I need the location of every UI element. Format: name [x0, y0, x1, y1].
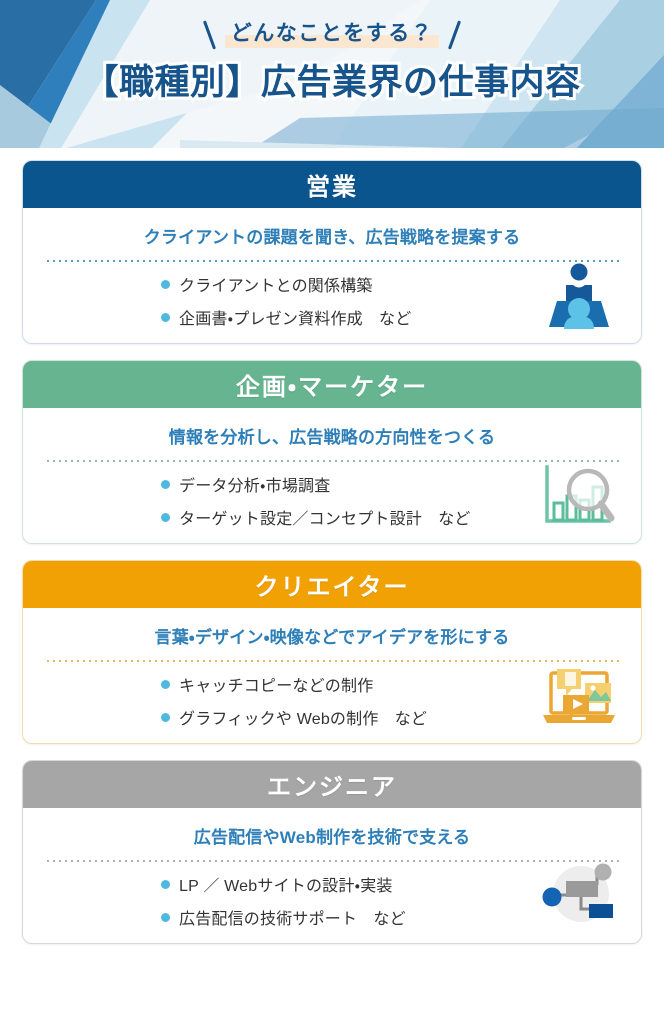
header-eyebrow: どんなことをする？: [225, 21, 440, 48]
job-card-subtitle-sales: クライアントの課題を聞き、広告戦略を提案する: [41, 224, 623, 260]
job-card-bullets-engineer: LP ／ Webサイトの設計・実装 広告配信の技術サポート など: [41, 872, 623, 929]
job-card-body-engineer: 広告配信やWeb制作を技術で支える LP ／ Webサイトの設計・実装 広告配信…: [23, 808, 641, 943]
job-category-list: 営業 クライアントの課題を聞き、広告戦略を提案する クライアントとの関係構築 企…: [0, 150, 664, 958]
job-card-sales: 営業 クライアントの課題を聞き、広告戦略を提案する クライアントとの関係構築 企…: [22, 160, 642, 344]
dotted-divider: [45, 260, 619, 262]
network-flowchart-icon: [541, 863, 617, 929]
bullet-label: 広告配信の技術サポート など: [179, 905, 406, 929]
job-card-subtitle-creator: 言葉・デザイン・映像などでアイデアを形にする: [41, 624, 623, 660]
job-card-creator: クリエイター 言葉・デザイン・映像などでアイデアを形にする キャッチコピーなどの…: [22, 560, 642, 744]
dotted-divider: [45, 460, 619, 462]
bullet-dot-icon: [161, 480, 170, 489]
bullet-dot-icon: [161, 713, 170, 722]
job-card-title-creator: クリエイター: [23, 561, 641, 608]
job-card-subtitle-marketer: 情報を分析し、広告戦略の方向性をつくる: [41, 424, 623, 460]
bullet-dot-icon: [161, 313, 170, 322]
bullet-label: データ分析・市場調査: [179, 472, 330, 496]
page-header: どんなことをする？ 【職種別】広告業界の仕事内容: [0, 0, 664, 150]
bullet-dot-icon: [161, 880, 170, 889]
dotted-divider: [45, 860, 619, 862]
two-people-icon: [541, 263, 617, 329]
job-card-title-sales: 営業: [23, 161, 641, 208]
bullet-label: 企画書・プレゼン資料作成 など: [179, 305, 411, 329]
job-card-bullets-marketer: データ分析・市場調査 ターゲット設定／コンセプト設計 など: [41, 472, 623, 529]
job-card-body-sales: クライアントの課題を聞き、広告戦略を提案する クライアントとの関係構築 企画書・…: [23, 208, 641, 343]
job-card-body-creator: 言葉・デザイン・映像などでアイデアを形にする キャッチコピーなどの制作 グラフィ…: [23, 608, 641, 743]
job-card-title-engineer: エンジニア: [23, 761, 641, 808]
header-eyebrow-row: どんなことをする？: [208, 16, 457, 54]
slash-right-icon: [448, 20, 461, 49]
bullet-dot-icon: [161, 913, 170, 922]
job-card-title-marketer: 企画・マーケター: [23, 361, 641, 408]
page-title: 【職種別】広告業界の仕事内容: [83, 61, 580, 105]
job-card-bullets-sales: クライアントとの関係構築 企画書・プレゼン資料作成 など: [41, 272, 623, 329]
bullet-label: ターゲット設定／コンセプト設計 など: [179, 505, 471, 529]
bar-chart-magnifier-icon: [541, 463, 617, 529]
slash-left-icon: [203, 20, 216, 49]
bullet-label: クライアントとの関係構築: [179, 272, 373, 296]
dotted-divider: [45, 660, 619, 662]
job-card-marketer: 企画・マーケター 情報を分析し、広告戦略の方向性をつくる データ分析・市場調査 …: [22, 360, 642, 544]
job-card-body-marketer: 情報を分析し、広告戦略の方向性をつくる データ分析・市場調査 ターゲット設定／コ…: [23, 408, 641, 543]
job-card-engineer: エンジニア 広告配信やWeb制作を技術で支える LP ／ Webサイトの設計・実…: [22, 760, 642, 944]
bullet-label: キャッチコピーなどの制作: [179, 672, 373, 696]
bullet-dot-icon: [161, 513, 170, 522]
bullet-label: グラフィックや Webの制作 など: [179, 705, 427, 729]
bullet-dot-icon: [161, 280, 170, 289]
laptop-media-icon: [541, 663, 617, 729]
infographic-page: どんなことをする？ 【職種別】広告業界の仕事内容 営業 クライアントの課題を聞き…: [0, 0, 664, 1024]
job-card-bullets-creator: キャッチコピーなどの制作 グラフィックや Webの制作 など: [41, 672, 623, 729]
bullet-label: LP ／ Webサイトの設計・実装: [179, 872, 393, 896]
job-card-subtitle-engineer: 広告配信やWeb制作を技術で支える: [41, 824, 623, 860]
bullet-dot-icon: [161, 680, 170, 689]
